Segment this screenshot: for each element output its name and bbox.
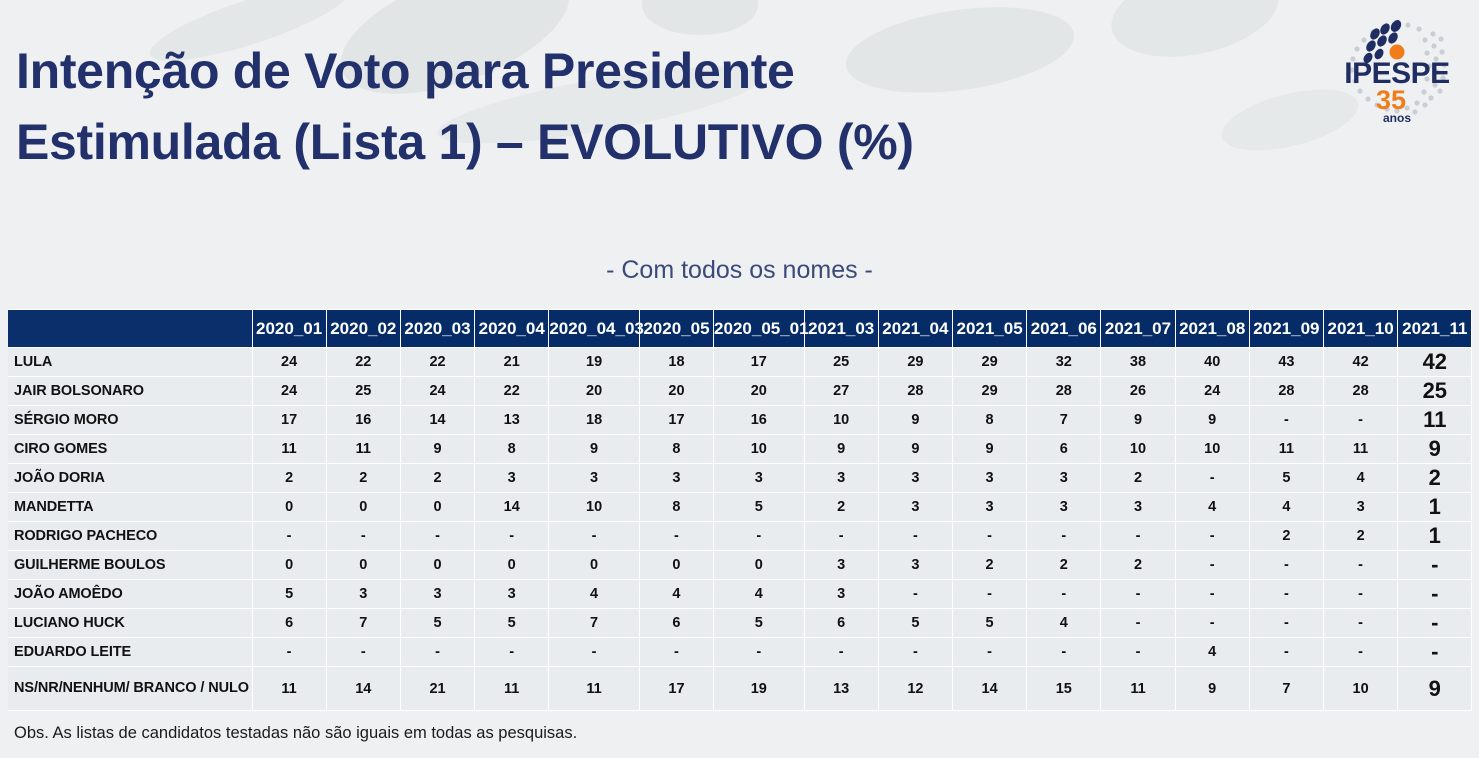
cell-value: 0 — [400, 551, 474, 580]
column-header-2020_04_03: 2020_04_03 — [549, 310, 640, 348]
cell-value: 14 — [326, 667, 400, 711]
cell-value: 10 — [714, 435, 805, 464]
slide-header: Intenção de Voto para Presidente Estimul… — [0, 0, 1479, 230]
cell-value: 4 — [1175, 493, 1249, 522]
cell-value: 5 — [714, 493, 805, 522]
cell-value: 40 — [1175, 348, 1249, 377]
cell-value: 3 — [804, 464, 878, 493]
column-header-2021_07: 2021_07 — [1101, 310, 1175, 348]
cell-value: - — [1249, 551, 1323, 580]
cell-value: 3 — [639, 464, 713, 493]
cell-value: 25 — [326, 377, 400, 406]
cell-value: 3 — [475, 580, 549, 609]
cell-value: 9 — [952, 435, 1026, 464]
cell-value: 5 — [475, 609, 549, 638]
ipespe-logo: IPESPE 35 anos — [1341, 8, 1453, 126]
cell-value: 3 — [714, 464, 805, 493]
cell-value: 24 — [252, 348, 326, 377]
cell-value: 4 — [549, 580, 640, 609]
cell-value: 2 — [1101, 464, 1175, 493]
cell-value: 32 — [1027, 348, 1101, 377]
cell-value: 13 — [804, 667, 878, 711]
cell-value: 3 — [1101, 493, 1175, 522]
cell-value: 28 — [1324, 377, 1398, 406]
cell-value: 8 — [952, 406, 1026, 435]
cell-value: 2 — [1324, 522, 1398, 551]
cell-value: - — [1175, 551, 1249, 580]
cell-value: 19 — [549, 348, 640, 377]
poll-table-container: 2020_012020_022020_032020_042020_04_0320… — [8, 309, 1472, 711]
cell-value: 11 — [475, 667, 549, 711]
cell-value: 18 — [549, 406, 640, 435]
cell-value: 0 — [639, 551, 713, 580]
cell-value: 28 — [1027, 377, 1101, 406]
cell-value: 14 — [952, 667, 1026, 711]
column-header-2021_04: 2021_04 — [878, 310, 952, 348]
cell-value: 6 — [804, 609, 878, 638]
cell-value: 6 — [252, 609, 326, 638]
cell-value: 7 — [549, 609, 640, 638]
cell-value: 17 — [639, 406, 713, 435]
cell-value: 16 — [714, 406, 805, 435]
cell-value: - — [1175, 522, 1249, 551]
row-label: LUCIANO HUCK — [8, 609, 252, 638]
row-label: NS/NR/NENHUM/ BRANCO / NULO — [8, 667, 252, 711]
cell-value: 9 — [1175, 406, 1249, 435]
cell-value: - — [714, 638, 805, 667]
cell-value: 2 — [326, 464, 400, 493]
cell-value: 2 — [1398, 464, 1472, 493]
row-label: CIRO GOMES — [8, 435, 252, 464]
cell-value: 4 — [639, 580, 713, 609]
cell-value: - — [400, 638, 474, 667]
row-label: EDUARDO LEITE — [8, 638, 252, 667]
cell-value: - — [1101, 638, 1175, 667]
row-label: LULA — [8, 348, 252, 377]
row-label: MANDETTA — [8, 493, 252, 522]
column-header-2020_03: 2020_03 — [400, 310, 474, 348]
page-title: Intenção de Voto para Presidente Estimul… — [16, 36, 1246, 178]
column-header-2020_05_01: 2020_05_01 — [714, 310, 805, 348]
cell-value: 3 — [878, 493, 952, 522]
cell-value: 22 — [475, 377, 549, 406]
cell-value: 21 — [475, 348, 549, 377]
cell-value: - — [475, 522, 549, 551]
cell-value: 14 — [400, 406, 474, 435]
cell-value: 2 — [1027, 551, 1101, 580]
cell-value: - — [400, 522, 474, 551]
column-header-2021_03: 2021_03 — [804, 310, 878, 348]
cell-value: 10 — [549, 493, 640, 522]
cell-value: 2 — [952, 551, 1026, 580]
cell-value: - — [952, 522, 1026, 551]
cell-value: 5 — [714, 609, 805, 638]
cell-value: 4 — [1175, 638, 1249, 667]
cell-value: 9 — [549, 435, 640, 464]
cell-value: 42 — [1324, 348, 1398, 377]
column-header-2020_04: 2020_04 — [475, 310, 549, 348]
cell-value: 3 — [1027, 493, 1101, 522]
cell-value: 3 — [400, 580, 474, 609]
cell-value: 0 — [549, 551, 640, 580]
row-label: JOÃO DORIA — [8, 464, 252, 493]
cell-value: 16 — [326, 406, 400, 435]
cell-value: 6 — [1027, 435, 1101, 464]
cell-value: - — [549, 638, 640, 667]
cell-value: - — [549, 522, 640, 551]
cell-value: - — [252, 522, 326, 551]
cell-value: 19 — [714, 667, 805, 711]
cell-value: - — [714, 522, 805, 551]
cell-value: 7 — [326, 609, 400, 638]
cell-value: - — [1398, 638, 1472, 667]
column-header-2021_05: 2021_05 — [952, 310, 1026, 348]
table-row: LUCIANO HUCK67557656554----- — [8, 609, 1472, 638]
cell-value: 29 — [952, 377, 1026, 406]
cell-value: 25 — [1398, 377, 1472, 406]
cell-value: 10 — [1324, 667, 1398, 711]
cell-value: 9 — [878, 406, 952, 435]
cell-value: 5 — [952, 609, 1026, 638]
cell-value: - — [1175, 609, 1249, 638]
cell-value: - — [804, 638, 878, 667]
column-header-2020_02: 2020_02 — [326, 310, 400, 348]
cell-value: 10 — [1101, 435, 1175, 464]
cell-value: 42 — [1398, 348, 1472, 377]
logo-years-label: anos — [1383, 111, 1411, 125]
cell-value: 5 — [252, 580, 326, 609]
cell-value: - — [1175, 464, 1249, 493]
cell-value: 3 — [326, 580, 400, 609]
cell-value: - — [1027, 522, 1101, 551]
cell-value: 10 — [1175, 435, 1249, 464]
table-header-row: 2020_012020_022020_032020_042020_04_0320… — [8, 310, 1472, 348]
footnote: Obs. As listas de candidatos testadas nã… — [14, 724, 577, 743]
cell-value: - — [878, 522, 952, 551]
cell-value: - — [952, 638, 1026, 667]
cell-value: 20 — [549, 377, 640, 406]
cell-value: 20 — [639, 377, 713, 406]
table-body: LULA24222221191817252929323840434242JAIR… — [8, 348, 1472, 711]
cell-value: 9 — [1398, 667, 1472, 711]
cell-value: - — [1101, 609, 1175, 638]
cell-value: 22 — [400, 348, 474, 377]
cell-value: - — [1249, 609, 1323, 638]
cell-value: - — [1249, 638, 1323, 667]
cell-value: 2 — [252, 464, 326, 493]
cell-value: 5 — [400, 609, 474, 638]
cell-value: 9 — [1101, 406, 1175, 435]
table-row: JOÃO DORIA222333333332-542 — [8, 464, 1472, 493]
cell-value: - — [952, 580, 1026, 609]
cell-value: 0 — [252, 551, 326, 580]
cell-value: - — [878, 580, 952, 609]
cell-value: - — [1175, 580, 1249, 609]
cell-value: - — [1101, 522, 1175, 551]
cell-value: 17 — [639, 667, 713, 711]
table-row: GUILHERME BOULOS000000033222---- — [8, 551, 1472, 580]
table-row: JOÃO AMOÊDO53334443-------- — [8, 580, 1472, 609]
column-header-2021_06: 2021_06 — [1027, 310, 1101, 348]
cell-value: 6 — [639, 609, 713, 638]
cell-value: 10 — [804, 406, 878, 435]
cell-value: 4 — [1027, 609, 1101, 638]
cell-value: - — [1398, 551, 1472, 580]
cell-value: 12 — [878, 667, 952, 711]
cell-value: 13 — [475, 406, 549, 435]
cell-value: 11 — [252, 667, 326, 711]
column-header-2021_11: 2021_11 — [1398, 310, 1472, 348]
cell-value: 4 — [1249, 493, 1323, 522]
cell-value: 11 — [252, 435, 326, 464]
cell-value: 0 — [400, 493, 474, 522]
cell-value: 3 — [1027, 464, 1101, 493]
table-row: SÉRGIO MORO171614131817161098799--11 — [8, 406, 1472, 435]
cell-value: - — [1249, 580, 1323, 609]
column-header-2021_08: 2021_08 — [1175, 310, 1249, 348]
cell-value: 3 — [878, 464, 952, 493]
cell-value: 24 — [1175, 377, 1249, 406]
column-header-2020_01: 2020_01 — [252, 310, 326, 348]
cell-value: 18 — [639, 348, 713, 377]
cell-value: 0 — [326, 551, 400, 580]
table-row: NS/NR/NENHUM/ BRANCO / NULO1114211111171… — [8, 667, 1472, 711]
cell-value: 24 — [252, 377, 326, 406]
cell-value: 2 — [804, 493, 878, 522]
cell-value: 17 — [714, 348, 805, 377]
cell-value: 7 — [1027, 406, 1101, 435]
cell-value: 8 — [639, 493, 713, 522]
cell-value: 14 — [475, 493, 549, 522]
cell-value: 0 — [475, 551, 549, 580]
cell-value: 3 — [952, 464, 1026, 493]
table-row: JAIR BOLSONARO24252422202020272829282624… — [8, 377, 1472, 406]
cell-value: 25 — [804, 348, 878, 377]
cell-value: 2 — [400, 464, 474, 493]
table-row: EDUARDO LEITE------------4--- — [8, 638, 1472, 667]
table-row: LULA24222221191817252929323840434242 — [8, 348, 1472, 377]
subtitle: - Com todos os nomes - — [0, 256, 1479, 285]
cell-value: 3 — [878, 551, 952, 580]
cell-value: - — [1101, 580, 1175, 609]
cell-value: 4 — [1324, 464, 1398, 493]
cell-value: 7 — [1249, 667, 1323, 711]
column-header-2020_05: 2020_05 — [639, 310, 713, 348]
cell-value: 0 — [714, 551, 805, 580]
cell-value: 24 — [400, 377, 474, 406]
cell-value: - — [1027, 580, 1101, 609]
cell-value: 11 — [549, 667, 640, 711]
cell-value: - — [252, 638, 326, 667]
cell-value: - — [1324, 580, 1398, 609]
cell-value: 3 — [549, 464, 640, 493]
cell-value: 3 — [952, 493, 1026, 522]
row-label: JAIR BOLSONARO — [8, 377, 252, 406]
cell-value: 28 — [878, 377, 952, 406]
table-row: MANDETTA000141085233334431 — [8, 493, 1472, 522]
cell-value: 29 — [878, 348, 952, 377]
cell-value: 38 — [1101, 348, 1175, 377]
row-label: JOÃO AMOÊDO — [8, 580, 252, 609]
cell-value: 3 — [1324, 493, 1398, 522]
cell-value: - — [1249, 406, 1323, 435]
cell-value: - — [326, 638, 400, 667]
cell-value: - — [639, 522, 713, 551]
cell-value: 0 — [326, 493, 400, 522]
table-corner-cell — [8, 310, 252, 348]
cell-value: 5 — [878, 609, 952, 638]
cell-value: 9 — [1175, 667, 1249, 711]
cell-value: 17 — [252, 406, 326, 435]
cell-value: 9 — [804, 435, 878, 464]
cell-value: 0 — [252, 493, 326, 522]
cell-value: - — [326, 522, 400, 551]
table-head: 2020_012020_022020_032020_042020_04_0320… — [8, 310, 1472, 348]
cell-value: 2 — [1101, 551, 1175, 580]
cell-value: 3 — [475, 464, 549, 493]
cell-value: 11 — [1101, 667, 1175, 711]
cell-value: 11 — [1249, 435, 1323, 464]
cell-value: 1 — [1398, 493, 1472, 522]
cell-value: 11 — [326, 435, 400, 464]
cell-value: 11 — [1398, 406, 1472, 435]
cell-value: 26 — [1101, 377, 1175, 406]
cell-value: 29 — [952, 348, 1026, 377]
cell-value: 9 — [400, 435, 474, 464]
cell-value: - — [1324, 638, 1398, 667]
cell-value: 21 — [400, 667, 474, 711]
table-row: RODRIGO PACHECO-------------221 — [8, 522, 1472, 551]
column-header-2021_10: 2021_10 — [1324, 310, 1398, 348]
cell-value: 43 — [1249, 348, 1323, 377]
cell-value: 9 — [878, 435, 952, 464]
cell-value: 5 — [1249, 464, 1323, 493]
cell-value: - — [1398, 580, 1472, 609]
cell-value: - — [1398, 609, 1472, 638]
cell-value: - — [804, 522, 878, 551]
cell-value: - — [878, 638, 952, 667]
row-label: SÉRGIO MORO — [8, 406, 252, 435]
table-row: CIRO GOMES11119898109996101011119 — [8, 435, 1472, 464]
cell-value: 15 — [1027, 667, 1101, 711]
cell-value: 3 — [804, 551, 878, 580]
cell-value: - — [475, 638, 549, 667]
cell-value: 9 — [1398, 435, 1472, 464]
cell-value: 20 — [714, 377, 805, 406]
cell-value: 3 — [804, 580, 878, 609]
cell-value: 8 — [475, 435, 549, 464]
cell-value: 1 — [1398, 522, 1472, 551]
cell-value: 28 — [1249, 377, 1323, 406]
row-label: GUILHERME BOULOS — [8, 551, 252, 580]
cell-value: - — [1324, 609, 1398, 638]
cell-value: - — [1027, 638, 1101, 667]
poll-table: 2020_012020_022020_032020_042020_04_0320… — [8, 309, 1472, 711]
row-label: RODRIGO PACHECO — [8, 522, 252, 551]
cell-value: 27 — [804, 377, 878, 406]
cell-value: 22 — [326, 348, 400, 377]
cell-value: - — [1324, 406, 1398, 435]
cell-value: 8 — [639, 435, 713, 464]
cell-value: - — [1324, 551, 1398, 580]
cell-value: 11 — [1324, 435, 1398, 464]
cell-value: - — [639, 638, 713, 667]
cell-value: 2 — [1249, 522, 1323, 551]
column-header-2021_09: 2021_09 — [1249, 310, 1323, 348]
cell-value: 4 — [714, 580, 805, 609]
